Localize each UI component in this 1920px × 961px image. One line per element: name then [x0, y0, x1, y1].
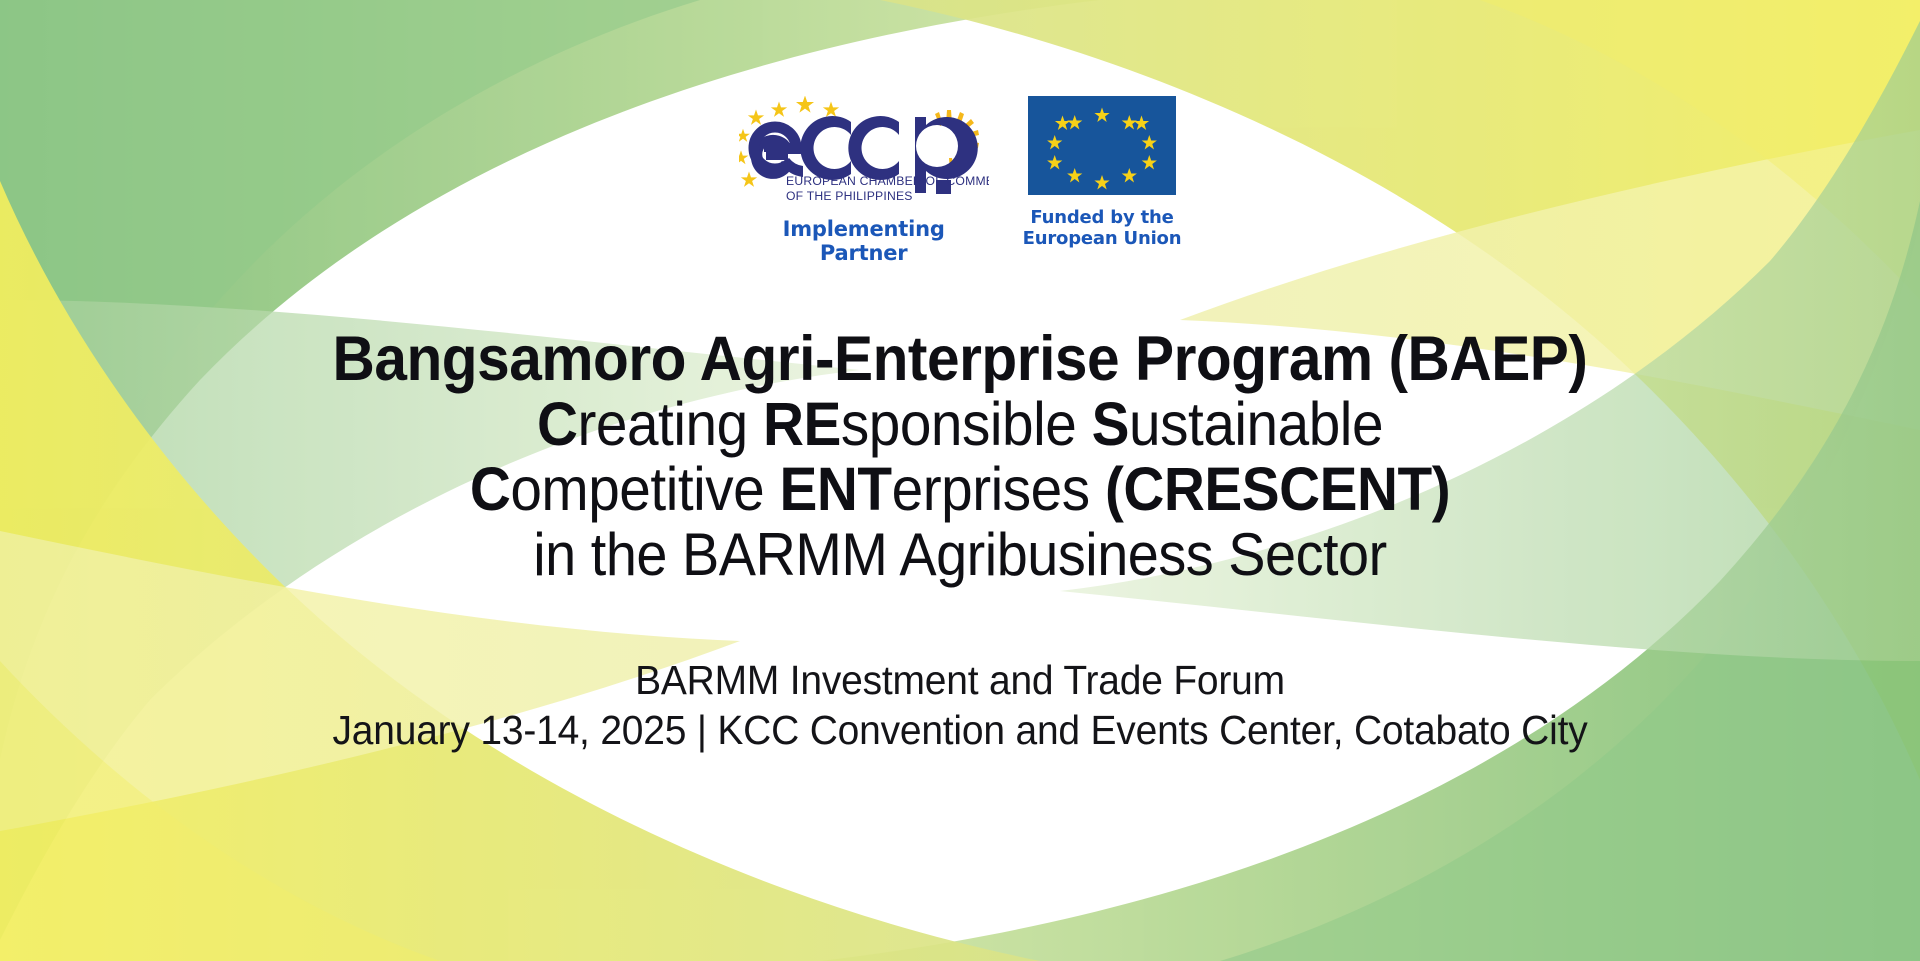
event-details: January 13-14, 2025 | KCC Convention and… — [48, 705, 1872, 755]
eccp-logo-block: EUROPEAN CHAMBER OF COMMERCE OF THE PHIL… — [739, 96, 989, 265]
title-line-2: Creating REsponsible Sustainable — [67, 392, 1853, 457]
title-block: Bangsamoro Agri-Enterprise Program (BAEP… — [0, 327, 1920, 587]
event-block: BARMM Investment and Trade Forum January… — [0, 655, 1920, 755]
eu-caption: Funded by the European Union — [1023, 208, 1182, 249]
event-name: BARMM Investment and Trade Forum — [48, 655, 1872, 705]
eccp-caption-line1: Implementing — [783, 217, 945, 241]
title-line-4: in the BARMM Agribusiness Sector — [67, 522, 1853, 587]
eu-logo-block: Funded by the European Union — [1023, 96, 1182, 249]
eu-caption-line2: European Union — [1023, 228, 1182, 249]
title-line-1: Bangsamoro Agri-Enterprise Program (BAEP… — [67, 327, 1853, 392]
eccp-caption-line2: Partner — [820, 241, 908, 265]
eccp-caption: Implementing Partner — [783, 218, 945, 265]
eccp-tagline-line2: OF THE PHILIPPINES — [786, 189, 913, 203]
eu-flag-icon — [1028, 96, 1176, 195]
title-slide: EUROPEAN CHAMBER OF COMMERCE OF THE PHIL… — [0, 0, 1920, 961]
logo-band: EUROPEAN CHAMBER OF COMMERCE OF THE PHIL… — [0, 96, 1920, 265]
eccp-tagline-line1: EUROPEAN CHAMBER OF COMMERCE — [786, 174, 989, 188]
eu-caption-line1: Funded by the — [1030, 207, 1173, 228]
eccp-logo-icon: EUROPEAN CHAMBER OF COMMERCE OF THE PHIL… — [739, 96, 989, 204]
title-line-3: Competitive ENTerprises (CRESCENT) — [67, 457, 1853, 522]
